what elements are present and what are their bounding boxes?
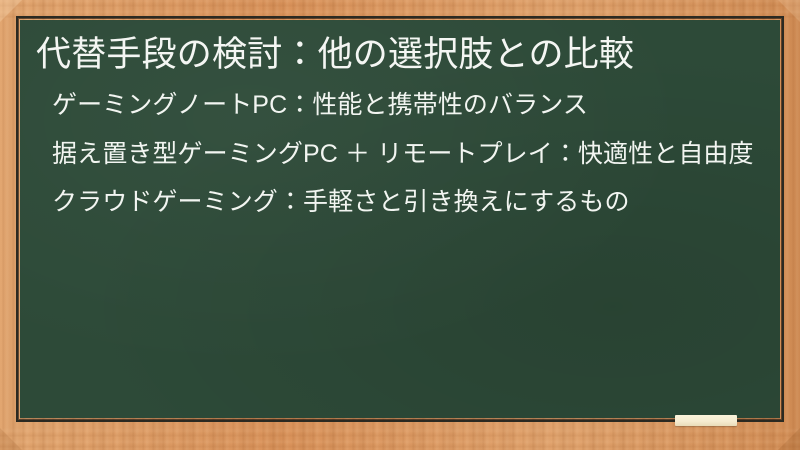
list-item: ゲーミングノートPC：性能と携帯性のバランス [52,89,756,122]
frame-corner-top-right [778,0,800,22]
slide-canvas: 代替手段の検討：他の選択肢との比較 ゲーミングノートPC：性能と携帯性のバランス… [0,0,800,450]
frame-rail-top [0,0,800,20]
page-title: 代替手段の検討：他の選択肢との比較 [32,34,762,75]
chalkboard-content: 代替手段の検討：他の選択肢との比較 ゲーミングノートPC：性能と携帯性のバランス… [20,20,780,418]
frame-corner-top-left [0,0,22,22]
list-item: クラウドゲーミング：手軽さと引き換えにするもの [52,186,756,219]
chalkboard: 代替手段の検討：他の選択肢との比較 ゲーミングノートPC：性能と携帯性のバランス… [20,20,780,418]
frame-corner-bottom-right [778,428,800,450]
bullet-list: ゲーミングノートPC：性能と携帯性のバランス 据え置き型ゲーミングPC ＋ リモ… [32,89,762,219]
frame-corner-bottom-left [0,428,22,450]
frame-rail-bottom [0,428,800,450]
list-item: 据え置き型ゲーミングPC ＋ リモートプレイ：快適性と自由度 [52,138,756,171]
chalk-stick-icon [675,415,737,426]
